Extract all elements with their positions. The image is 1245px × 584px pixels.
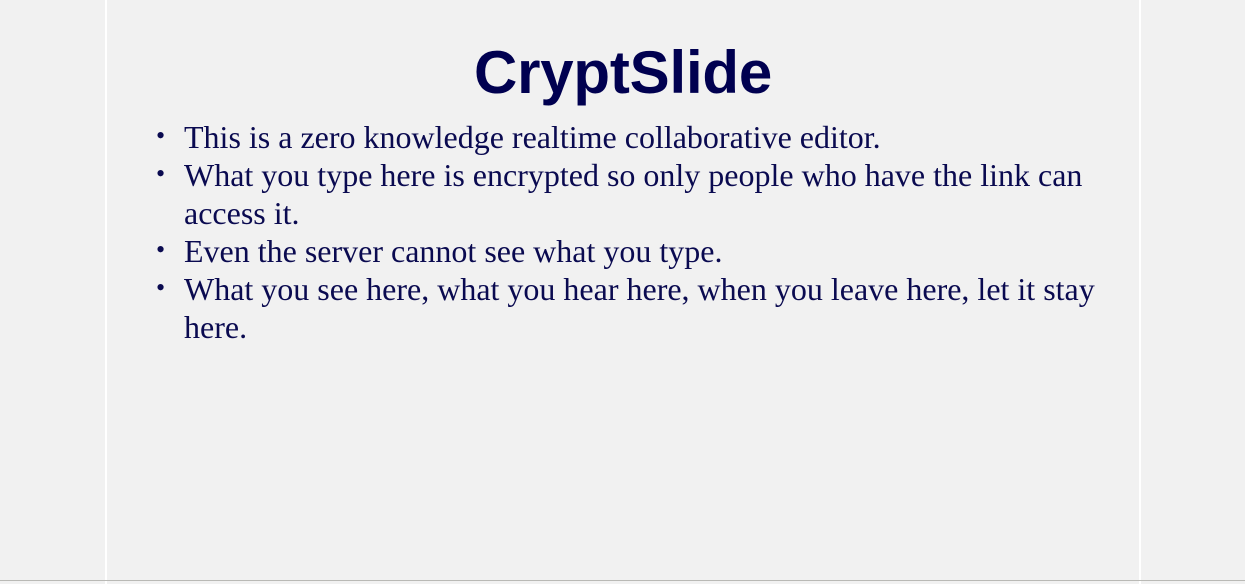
slide-title[interactable]: CryptSlide [107, 40, 1139, 106]
list-item[interactable]: • What you type here is encrypted so onl… [145, 156, 1130, 232]
list-item-text: What you see here, what you hear here, w… [184, 271, 1095, 345]
slide-content: CryptSlide • This is a zero knowledge re… [107, 0, 1139, 584]
slide-body[interactable]: • This is a zero knowledge realtime coll… [145, 118, 1130, 346]
list-item-text: What you type here is encrypted so only … [184, 157, 1082, 231]
slide-canvas[interactable]: CryptSlide • This is a zero knowledge re… [105, 0, 1141, 584]
left-gutter [0, 0, 105, 584]
list-item[interactable]: • This is a zero knowledge realtime coll… [145, 118, 1130, 156]
right-gutter [1141, 0, 1245, 584]
bullet-list: • This is a zero knowledge realtime coll… [145, 118, 1130, 346]
bullet-point-icon: • [156, 118, 168, 156]
list-item[interactable]: • Even the server cannot see what you ty… [145, 232, 1130, 270]
list-item-text: This is a zero knowledge realtime collab… [184, 119, 881, 155]
list-item-text: Even the server cannot see what you type… [184, 233, 722, 269]
bullet-point-icon: • [156, 270, 168, 308]
bullet-point-icon: • [156, 156, 168, 194]
bottom-rule [0, 580, 1245, 581]
bullet-point-icon: • [156, 232, 168, 270]
list-item[interactable]: • What you see here, what you hear here,… [145, 270, 1130, 346]
